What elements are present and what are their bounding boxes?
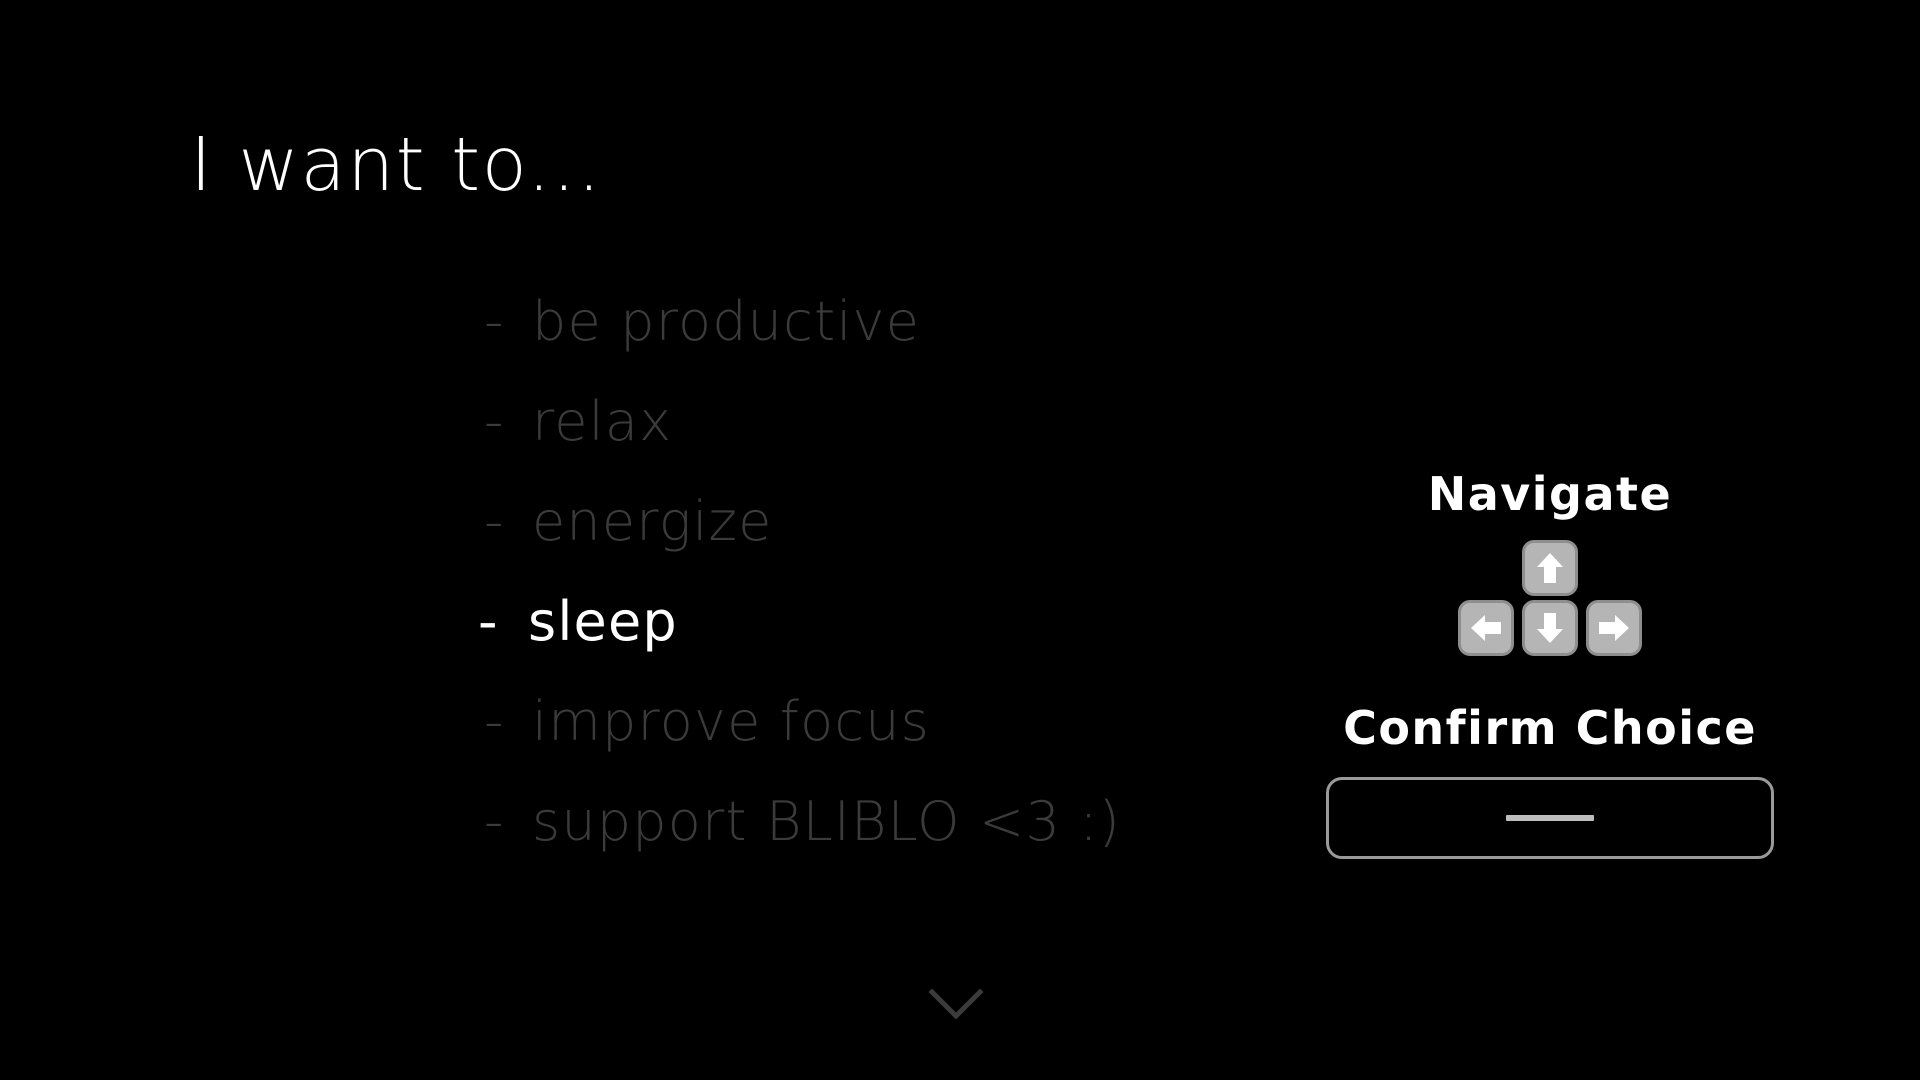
arrow-up-key[interactable] (1522, 540, 1578, 596)
menu-item[interactable]: -be productive (484, 272, 1384, 372)
menu-item-label: improve focus (532, 690, 930, 753)
menu-item-label: sleep (528, 590, 678, 653)
menu-item-label: energize (532, 490, 773, 553)
arrow-down-key[interactable] (1522, 600, 1578, 656)
menu-item-bullet: - (484, 372, 532, 472)
arrow-key-row-top (1454, 540, 1646, 596)
arrow-right-icon (1597, 613, 1631, 643)
arrow-key-row-bottom (1454, 600, 1646, 656)
menu-list: -be productive-relax-energize-sleep-impr… (484, 272, 1384, 872)
arrow-left-key[interactable] (1458, 600, 1514, 656)
menu-item[interactable]: -energize (484, 472, 1384, 572)
menu-item-label: support BLIBLO <3 :) (532, 790, 1121, 853)
menu-item[interactable]: -improve focus (484, 672, 1384, 772)
arrow-key-cluster (1290, 540, 1810, 656)
navigate-label: Navigate (1290, 470, 1810, 518)
menu-item[interactable]: -sleep (478, 572, 1384, 672)
menu-item[interactable]: -relax (484, 372, 1384, 472)
arrow-down-icon (1535, 611, 1565, 645)
menu-item-bullet: - (478, 572, 528, 672)
arrow-left-icon (1469, 613, 1503, 643)
page-title: I want to... (190, 128, 602, 202)
menu-item-bullet: - (484, 772, 532, 872)
confirm-choice-label: Confirm Choice (1290, 704, 1810, 752)
chevron-down-icon[interactable] (928, 988, 984, 1022)
app-screen: I want to... -be productive-relax-energi… (0, 0, 1920, 1080)
menu-item-bullet: - (484, 272, 532, 372)
menu-item-label: relax (532, 390, 672, 453)
spacebar-key[interactable] (1326, 777, 1774, 859)
arrow-right-key[interactable] (1586, 600, 1642, 656)
controls-help-panel: Navigate (1290, 470, 1810, 859)
menu-item[interactable]: -support BLIBLO <3 :) (484, 772, 1384, 872)
menu-item-bullet: - (484, 472, 532, 572)
arrow-up-icon (1535, 551, 1565, 585)
menu-item-bullet: - (484, 672, 532, 772)
menu-item-label: be productive (532, 290, 920, 353)
spacebar-icon (1506, 815, 1594, 821)
